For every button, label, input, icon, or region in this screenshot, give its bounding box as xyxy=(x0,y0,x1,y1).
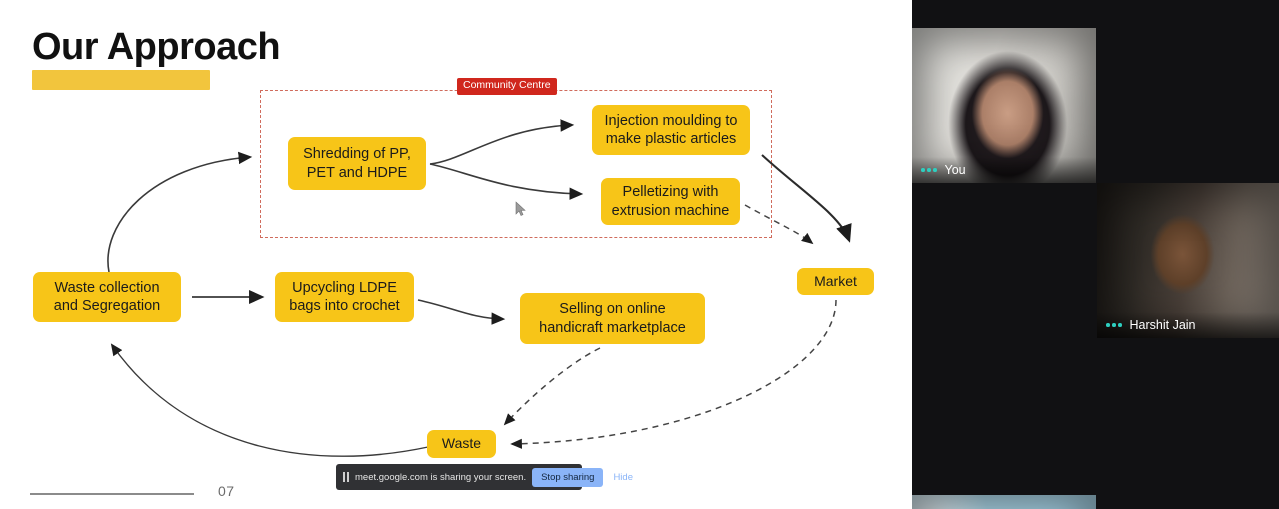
participant-name: Harshit Jain xyxy=(1130,318,1196,332)
node-waste-collection[interactable]: Waste collection and Segregation xyxy=(33,272,181,322)
node-waste[interactable]: Waste xyxy=(427,430,496,458)
participant-namebar: Harshit Jain xyxy=(1097,312,1279,338)
hide-button[interactable]: Hide xyxy=(609,470,637,485)
more-options-icon[interactable] xyxy=(1106,323,1122,327)
footer-rule xyxy=(30,493,194,495)
screen-share-bar: meet.google.com is sharing your screen. … xyxy=(336,464,582,490)
node-market[interactable]: Market xyxy=(797,268,874,295)
participant-tile[interactable]: Harshit Jain xyxy=(1097,183,1279,338)
presentation-slide: Our Approach Community Centre xyxy=(0,0,912,509)
stop-sharing-button[interactable]: Stop sharing xyxy=(532,468,603,487)
node-pelletizing[interactable]: Pelletizing with extrusion machine xyxy=(601,178,740,225)
title-highlight-bar xyxy=(32,70,210,90)
node-selling-online[interactable]: Selling on online handicraft marketplace xyxy=(520,293,705,344)
node-upcycling[interactable]: Upcycling LDPE bags into crochet xyxy=(275,272,414,322)
more-options-icon[interactable] xyxy=(921,168,937,172)
slide-title-block: Our Approach xyxy=(32,28,280,66)
mouse-cursor-icon xyxy=(515,201,527,217)
page-title: Our Approach xyxy=(32,28,280,66)
participant-tile[interactable]: You xyxy=(912,28,1096,183)
participant-video-grid: You Harshit Jain DEVANG TRIVEDI xyxy=(912,0,1279,509)
pause-icon[interactable] xyxy=(343,472,349,482)
node-injection-moulding[interactable]: Injection moulding to make plastic artic… xyxy=(592,105,750,155)
screen-share-view: Our Approach Community Centre xyxy=(0,0,1279,509)
share-message: meet.google.com is sharing your screen. xyxy=(355,472,526,483)
participant-name: You xyxy=(945,163,966,177)
participant-namebar: You xyxy=(912,157,1096,183)
video-vignette xyxy=(912,495,1096,509)
page-number: 07 xyxy=(218,483,235,499)
participant-tile[interactable]: DEVANG TRIVEDI xyxy=(912,495,1096,509)
node-shredding[interactable]: Shredding of PP, PET and HDPE xyxy=(288,137,426,190)
community-centre-label: Community Centre xyxy=(457,78,557,95)
